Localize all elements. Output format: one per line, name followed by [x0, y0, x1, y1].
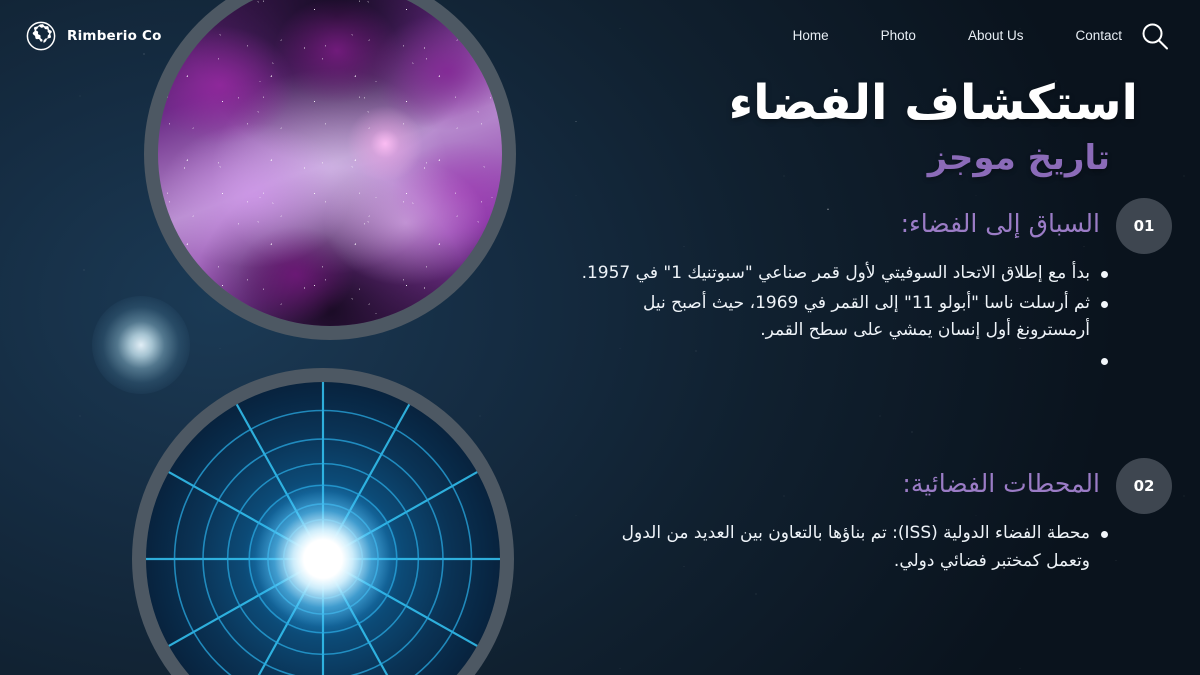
search-button[interactable] — [1138, 20, 1172, 54]
section-1-bullet-list: بدأ مع إطلاق الاتحاد السوفيتي لأول قمر ص… — [578, 260, 1118, 375]
tunnel-light-core — [248, 484, 398, 634]
list-item: بدأ مع إطلاق الاتحاد السوفيتي لأول قمر ص… — [578, 260, 1118, 288]
search-icon — [1138, 20, 1172, 54]
nav-item-photo[interactable]: Photo — [881, 28, 916, 43]
section-space-race: 01 السباق إلى الفضاء: بدأ مع إطلاق الاتح… — [550, 198, 1200, 254]
section-1-title: السباق إلى الفضاء: — [901, 208, 1100, 241]
nav-item-about-us[interactable]: About Us — [968, 28, 1024, 43]
section-1-header: 01 السباق إلى الفضاء: — [550, 198, 1200, 254]
nav-item-home[interactable]: Home — [793, 28, 829, 43]
globe-icon — [26, 21, 56, 51]
blue-wormhole-tunnel-circle — [132, 368, 514, 675]
list-item: محطة الفضاء الدولية (ISS): تم بناؤها بال… — [578, 520, 1118, 575]
tunnel-artwork — [146, 382, 500, 675]
list-item — [578, 347, 1118, 373]
section-2-title: المحطات الفضائية: — [902, 468, 1100, 501]
page-title: استكشاف الفضاء — [729, 78, 1138, 128]
nav-item-contact[interactable]: Contact — [1075, 28, 1122, 43]
list-item: ثم أرسلت ناسا "أبولو 11" إلى القمر في 19… — [578, 290, 1118, 345]
site-header: Rimberio Co Home Photo About Us Contact — [0, 0, 1200, 72]
section-1-number-badge: 01 — [1116, 198, 1172, 254]
main-navigation: Home Photo About Us Contact — [793, 28, 1122, 43]
section-2-bullet-list: محطة الفضاء الدولية (ISS): تم بناؤها بال… — [578, 520, 1118, 577]
tunnel-frame-inner — [146, 382, 500, 675]
section-2-header: 02 المحطات الفضائية: — [550, 458, 1200, 514]
content-column: استكشاف الفضاء تاريخ موجز 01 السباق إلى … — [550, 0, 1200, 675]
section-2-number-badge: 02 — [1116, 458, 1172, 514]
page-subtitle: تاريخ موجز — [928, 140, 1110, 177]
brand-name-label: Rimberio Co — [67, 28, 162, 44]
brand-logo[interactable]: Rimberio Co — [26, 21, 162, 51]
slide-canvas: Rimberio Co Home Photo About Us Contact … — [0, 0, 1200, 675]
section-space-stations: 02 المحطات الفضائية: محطة الفضاء الدولية… — [550, 458, 1200, 514]
